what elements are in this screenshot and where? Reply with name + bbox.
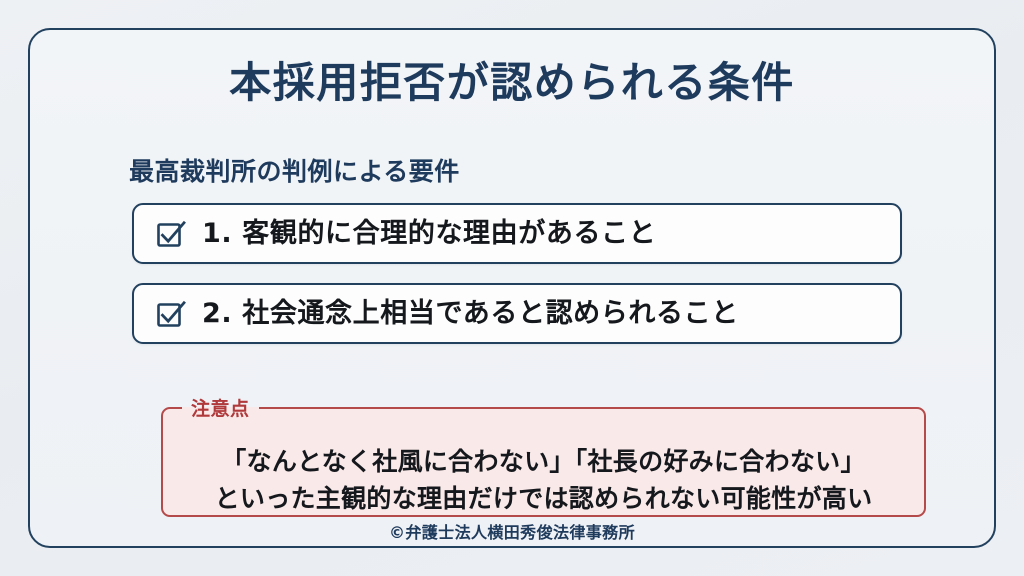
warning-callout: 注意点 「なんとなく社風に合わない」「社長の好みに合わない」 といった主観的な理…	[161, 394, 926, 517]
checkbox-checked-icon	[156, 299, 186, 329]
requirement-item-label: 2. 社会通念上相当であると認められること	[202, 300, 739, 327]
page-title: 本採用拒否が認められる条件	[30, 60, 994, 106]
warning-body: 「なんとなく社風に合わない」「社長の好みに合わない」 といった主観的な理由だけで…	[163, 443, 924, 517]
section-subtitle: 最高裁判所の判例による要件	[129, 152, 460, 188]
warning-line-2: といった主観的な理由だけでは認められない可能性が高い	[163, 480, 924, 517]
checkbox-checked-icon	[156, 219, 186, 249]
slide-card: 本採用拒否が認められる条件 最高裁判所の判例による要件 1. 客観的に合理的な理…	[28, 28, 996, 548]
requirement-item-label: 1. 客観的に合理的な理由があること	[202, 220, 656, 247]
requirement-item-2[interactable]: 2. 社会通念上相当であると認められること	[132, 283, 902, 344]
footer-copyright: ©弁護士法人横田秀俊法律事務所	[30, 519, 994, 543]
requirement-item-1[interactable]: 1. 客観的に合理的な理由があること	[132, 203, 902, 264]
warning-line-1: 「なんとなく社風に合わない」「社長の好みに合わない」	[163, 443, 924, 480]
requirements-list: 1. 客観的に合理的な理由があること 2. 社会通念上相当であると認められること	[132, 203, 902, 363]
warning-legend: 注意点	[182, 394, 259, 421]
